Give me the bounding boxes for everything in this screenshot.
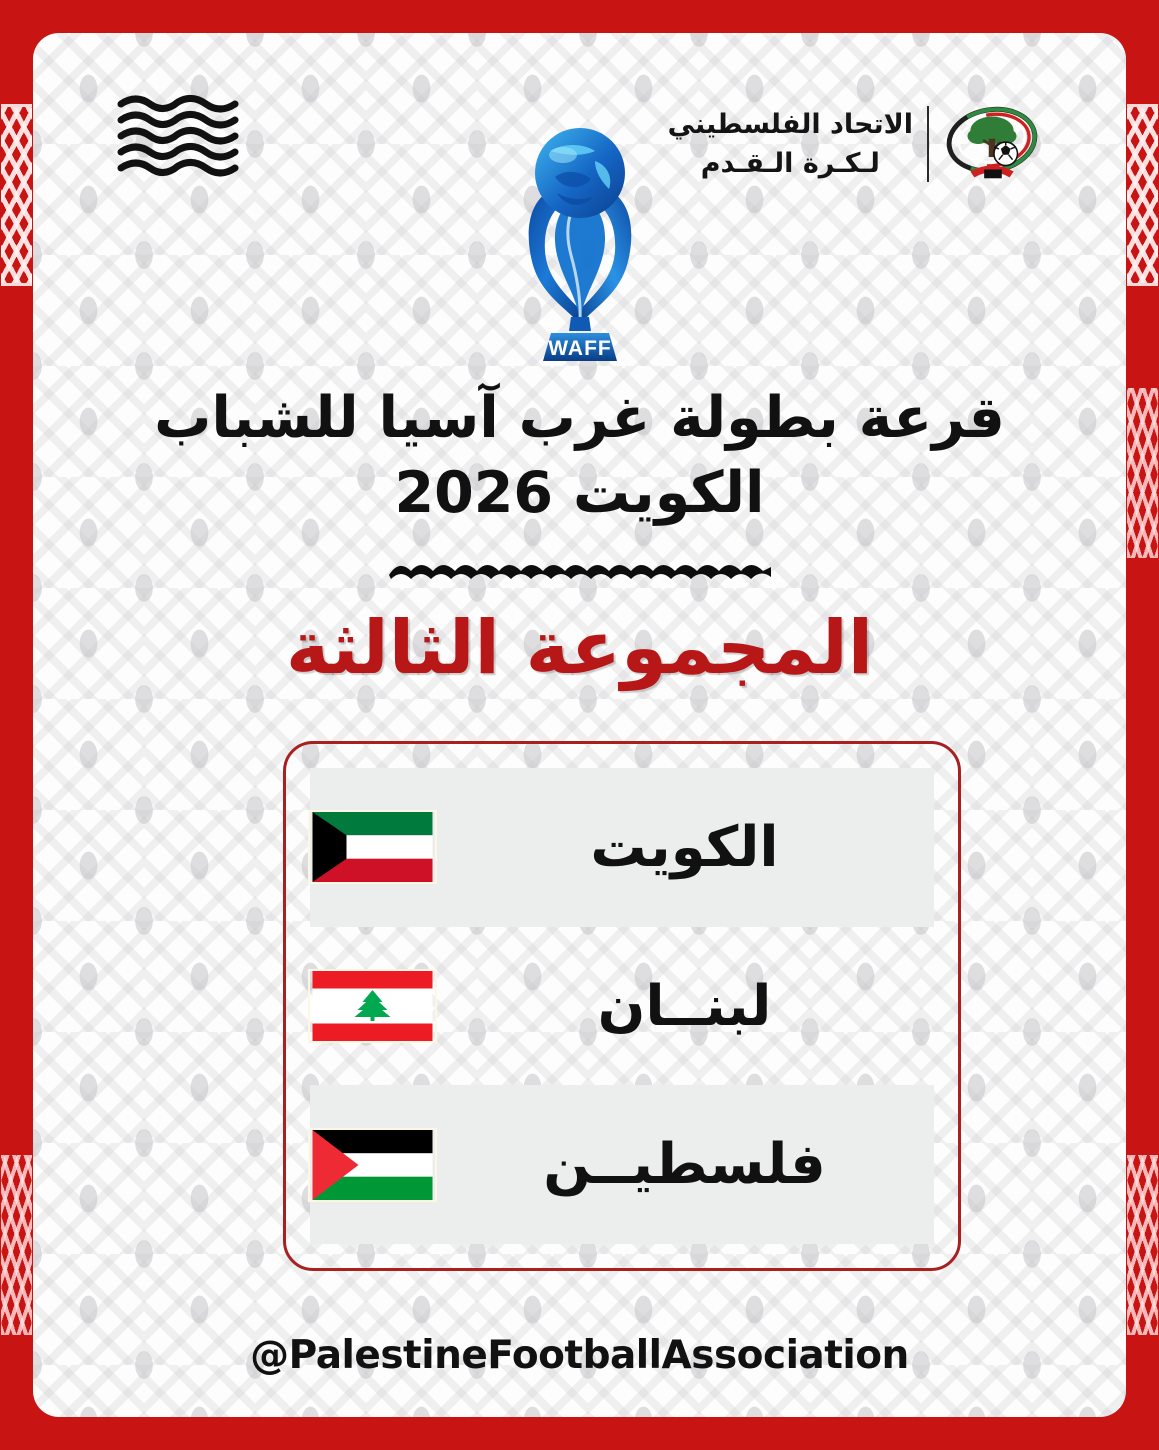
title-line-1: قرعة بطولة غرب آسيا للشباب <box>33 381 1126 456</box>
palestine-football-association-logo-icon <box>943 95 1041 193</box>
list-item[interactable]: الكويت <box>310 768 934 927</box>
federation-line-1: الاتحاد الفلسطيني <box>668 105 913 144</box>
flag-palestine-icon <box>310 1130 435 1200</box>
poster-title: قرعة بطولة غرب آسيا للشباب الكويت 2026 <box>33 381 1126 531</box>
teams-list: الكويت <box>310 768 934 1244</box>
team-name: الكويت <box>461 815 934 880</box>
team-name: لبنــان <box>461 974 934 1039</box>
svg-text:WAFF: WAFF <box>548 337 611 360</box>
waff-trophy-icon: WAFF <box>495 121 665 371</box>
flag-kuwait-icon <box>310 812 435 882</box>
tatreez-zigzag-right-bottom <box>1127 1155 1158 1335</box>
group-teams-card: الكويت <box>283 741 961 1271</box>
flag-lebanon-icon <box>310 971 435 1041</box>
list-item[interactable]: فلسطيــن <box>310 1085 934 1244</box>
federation-branding: الاتحاد الفلسطيني لـكـرة الـقـدم <box>668 95 1041 193</box>
tatreez-zigzag-left-bottom <box>1 1155 32 1335</box>
social-handle: @PalestineFootballAssociation <box>33 1333 1126 1378</box>
team-name: فلسطيــن <box>461 1132 934 1197</box>
list-item[interactable]: لبنــان <box>310 927 934 1086</box>
poster-root: الاتحاد الفلسطيني لـكـرة الـقـدم <box>0 0 1159 1450</box>
wavy-lines-icon <box>117 90 239 178</box>
tatreez-chevron-left-top <box>1 104 32 286</box>
group-heading: المجموعة الثالثة <box>33 605 1126 691</box>
federation-line-2: لـكـرة الـقـدم <box>668 144 913 183</box>
tatreez-chevron-right-top <box>1127 104 1158 286</box>
federation-text: الاتحاد الفلسطيني لـكـرة الـقـدم <box>668 105 913 183</box>
federation-divider <box>927 106 929 182</box>
chevron-ornament-divider-icon <box>389 549 771 589</box>
poster-canvas: الاتحاد الفلسطيني لـكـرة الـقـدم <box>33 33 1126 1417</box>
title-line-2: الكويت 2026 <box>33 456 1126 531</box>
tatreez-zigzag-right-middle <box>1127 388 1158 558</box>
